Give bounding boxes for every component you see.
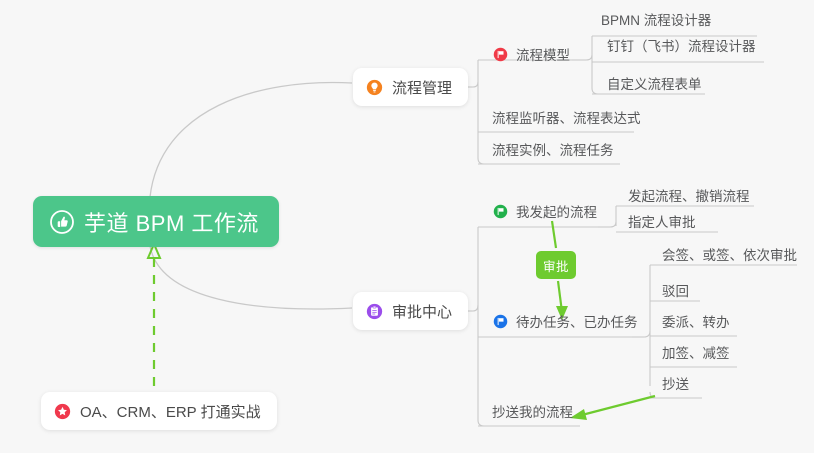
subnode-process-model[interactable]: 流程模型 xyxy=(493,44,570,64)
leaf-label-reject: 驳回 xyxy=(662,284,689,299)
leaf-label-process-instance: 流程实例、流程任务 xyxy=(492,143,614,158)
link-corner-approval-center xyxy=(473,305,478,311)
star-icon xyxy=(54,403,71,420)
subnode-todo-done-tasks[interactable]: 待办任务、已办任务 xyxy=(493,311,638,331)
integration-node-label: OA、CRM、ERP 打通实战 xyxy=(80,401,261,422)
branch-node-process-management[interactable]: 流程管理 xyxy=(353,68,468,106)
branch-label-approval-center: 审批中心 xyxy=(392,301,452,322)
leaf-process-listener[interactable]: 流程监听器、流程表达式 xyxy=(492,112,641,132)
leaf-label-start-cancel-process: 发起流程、撤销流程 xyxy=(628,189,750,204)
leaf-bpmn-designer[interactable]: BPMN 流程设计器 xyxy=(601,14,711,34)
leaf-label-delegate-transfer: 委派、转办 xyxy=(662,315,730,330)
root-node[interactable]: 芋道 BPM 工作流 xyxy=(33,196,279,247)
link-corner-custom-form xyxy=(592,88,598,94)
leaf-label-cc: 抄送 xyxy=(662,377,689,392)
link-corner-process-management xyxy=(473,82,478,87)
leaf-add-remove-sign[interactable]: 加签、减签 xyxy=(662,347,730,367)
relation-approve-upper xyxy=(552,221,556,248)
subnode-label-process-model: 流程模型 xyxy=(516,44,570,64)
thumbs-up-icon xyxy=(50,210,74,234)
flag-icon xyxy=(493,47,508,62)
leaf-countersign[interactable]: 会签、或签、依次审批 xyxy=(662,249,797,269)
relation-label-approve-text: 审批 xyxy=(543,256,569,275)
root-label: 芋道 BPM 工作流 xyxy=(84,206,259,238)
leaf-label-assignee-approval: 指定人审批 xyxy=(628,215,696,230)
leaf-delegate-transfer[interactable]: 委派、转办 xyxy=(662,316,730,336)
leaf-label-custom-form: 自定义流程表单 xyxy=(607,77,702,92)
subnode-label-todo-done-tasks: 待办任务、已办任务 xyxy=(516,311,638,331)
relation-approve-lower xyxy=(558,281,562,312)
leaf-assignee-approval[interactable]: 指定人审批 xyxy=(628,216,696,236)
link-root-to-approval-center xyxy=(150,246,352,309)
leaf-cc-to-me[interactable]: 抄送我的流程 xyxy=(492,406,573,426)
relation-label-approve[interactable]: 审批 xyxy=(536,251,576,279)
link-corner-my-initiated xyxy=(610,222,616,227)
leaf-dingtalk-designer[interactable]: 钉钉（飞书）流程设计器 xyxy=(607,40,756,60)
relation-cc-line xyxy=(578,396,655,416)
leaf-process-instance[interactable]: 流程实例、流程任务 xyxy=(492,144,614,164)
integration-node[interactable]: OA、CRM、ERP 打通实战 xyxy=(41,392,277,430)
leaf-label-dingtalk-designer: 钉钉（飞书）流程设计器 xyxy=(607,39,756,54)
leaf-label-countersign: 会签、或签、依次审批 xyxy=(662,248,797,263)
mindmap-canvas: 芋道 BPM 工作流 流程管理 流程模型 BPMN 流程设计器 钉钉（飞书 xyxy=(0,0,814,453)
clipboard-icon xyxy=(366,303,383,320)
leaf-cc[interactable]: 抄送 xyxy=(662,378,689,398)
lightbulb-icon xyxy=(366,79,383,96)
branch-label-process-management: 流程管理 xyxy=(392,77,452,98)
flag-icon xyxy=(493,204,508,219)
leaf-custom-form[interactable]: 自定义流程表单 xyxy=(607,78,702,98)
branch-node-approval-center[interactable]: 审批中心 xyxy=(353,292,468,330)
flag-icon xyxy=(493,314,508,329)
link-corner-cc xyxy=(650,392,656,398)
leaf-reject[interactable]: 驳回 xyxy=(662,285,689,305)
leaf-label-process-listener: 流程监听器、流程表达式 xyxy=(492,111,641,126)
leaf-label-add-remove-sign: 加签、减签 xyxy=(662,346,730,361)
link-corner-process-instance xyxy=(478,158,484,164)
leaf-label-cc-to-me: 抄送我的流程 xyxy=(492,405,573,420)
link-corner-todo-tasks xyxy=(644,331,650,337)
link-corner-process-model xyxy=(586,55,592,60)
subnode-my-initiated[interactable]: 我发起的流程 xyxy=(493,201,597,221)
link-corner-cc-to-me xyxy=(478,420,484,426)
leaf-start-cancel-process[interactable]: 发起流程、撤销流程 xyxy=(628,190,750,210)
link-root-to-process-management xyxy=(150,82,352,197)
subnode-label-my-initiated: 我发起的流程 xyxy=(516,201,597,221)
leaf-label-bpmn-designer: BPMN 流程设计器 xyxy=(601,13,711,28)
